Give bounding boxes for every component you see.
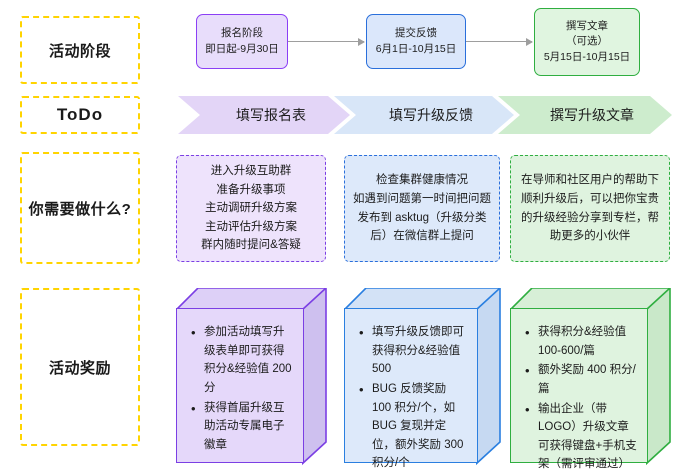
- reward-cube-feedback: 填写升级反馈即可获得积分&经验值 500 BUG 反馈奖励 100 积分/个，如…: [344, 288, 500, 463]
- reward-list-registration: 参加活动填写升级表单即可获得积分&经验值 200 分 获得首届升级互助活动专属电…: [189, 323, 293, 454]
- row-label-activity-stage: 活动阶段: [20, 16, 140, 84]
- todo-step-upgrade-feedback-label: 填写升级反馈: [389, 105, 473, 125]
- todo-step-registration-form-label: 填写报名表: [236, 105, 306, 125]
- need-box-article: 在导师和社区用户的帮助下顺利升级后，可以把你宝贵的升级经验分享到专栏，帮助更多的…: [510, 155, 670, 262]
- need-box-feedback-text: 检查集群健康情况 如遇到问题第一时间把问题发布到 asktug（升级分类后）在微…: [353, 171, 491, 246]
- cube-right-face-purple-icon: [302, 288, 328, 466]
- phase-box-article-title: 撰写文章: [566, 19, 608, 34]
- arrow-connector-1-icon: [288, 41, 364, 42]
- row-label-activity-award: 活动奖励: [20, 288, 140, 446]
- cube-right-face-blue-icon: [476, 288, 502, 466]
- cube-right-face-green-icon: [646, 288, 672, 466]
- phase-box-feedback-dates: 6月1日-10月15日: [376, 42, 457, 57]
- reward-item: 填写升级反馈即可获得积分&经验值 500: [372, 323, 467, 379]
- reward-item: BUG 反馈奖励 100 积分/个，如 BUG 复现并定位，额外奖励 300 积…: [372, 380, 467, 473]
- row-label-activity-award-text: 活动奖励: [49, 357, 111, 378]
- phase-box-article-dates: 5月15日-10月15日: [544, 50, 630, 65]
- need-box-registration: 进入升级互助群 准备升级事项 主动调研升级方案 主动评估升级方案 群内随时提问&…: [176, 155, 326, 262]
- phase-box-article[interactable]: 撰写文章 （可选） 5月15日-10月15日: [534, 8, 640, 76]
- reward-cube-article-body: 获得积分&经验值 100-600/篇 额外奖励 400 积分/篇 输出企业（带 …: [510, 308, 648, 463]
- reward-cube-registration-body: 参加活动填写升级表单即可获得积分&经验值 200 分 获得首届升级互助活动专属电…: [176, 308, 304, 463]
- phase-box-article-optional: （可选）: [566, 34, 608, 49]
- row-label-what-to-do: 你需要做什么?: [20, 152, 140, 264]
- row-label-todo-text: ToDo: [57, 105, 103, 125]
- need-box-registration-text: 进入升级互助群 准备升级事项 主动调研升级方案 主动评估升级方案 群内随时提问&…: [201, 162, 301, 255]
- reward-item: 参加活动填写升级表单即可获得积分&经验值 200 分: [204, 323, 293, 398]
- phase-box-feedback-title: 提交反馈: [395, 26, 437, 41]
- arrow-connector-2-icon: [466, 41, 532, 42]
- reward-item: 获得首届升级互助活动专属电子徽章: [204, 399, 293, 455]
- reward-item: 获得积分&经验值 100-600/篇: [538, 323, 637, 360]
- todo-step-registration-form[interactable]: 填写报名表: [178, 96, 350, 134]
- phase-box-registration-title: 报名阶段: [221, 26, 263, 41]
- need-box-feedback: 检查集群健康情况 如遇到问题第一时间把问题发布到 asktug（升级分类后）在微…: [344, 155, 500, 262]
- reward-cube-feedback-body: 填写升级反馈即可获得积分&经验值 500 BUG 反馈奖励 100 积分/个，如…: [344, 308, 478, 463]
- phase-box-registration[interactable]: 报名阶段 即日起-9月30日: [196, 14, 288, 69]
- row-label-what-to-do-text: 你需要做什么?: [29, 198, 132, 219]
- todo-step-upgrade-article-label: 撰写升级文章: [550, 105, 634, 125]
- reward-item: 输出企业（带 LOGO）升级文章可获得键盘+手机支架（需评审通过）: [538, 400, 637, 474]
- need-box-article-text: 在导师和社区用户的帮助下顺利升级后，可以把你宝贵的升级经验分享到专栏，帮助更多的…: [519, 171, 661, 246]
- row-label-todo: ToDo: [20, 96, 140, 134]
- reward-list-feedback: 填写升级反馈即可获得积分&经验值 500 BUG 反馈奖励 100 积分/个，如…: [357, 323, 467, 473]
- phase-box-feedback[interactable]: 提交反馈 6月1日-10月15日: [366, 14, 466, 69]
- todo-step-upgrade-article[interactable]: 撰写升级文章: [498, 96, 672, 134]
- row-label-activity-stage-text: 活动阶段: [49, 40, 111, 61]
- reward-cube-article: 获得积分&经验值 100-600/篇 额外奖励 400 积分/篇 输出企业（带 …: [510, 288, 670, 463]
- reward-list-article: 获得积分&经验值 100-600/篇 额外奖励 400 积分/篇 输出企业（带 …: [523, 323, 637, 474]
- todo-step-upgrade-feedback[interactable]: 填写升级反馈: [334, 96, 514, 134]
- reward-item: 额外奖励 400 积分/篇: [538, 361, 637, 398]
- reward-cube-registration: 参加活动填写升级表单即可获得积分&经验值 200 分 获得首届升级互助活动专属电…: [176, 288, 326, 463]
- phase-box-registration-dates: 即日起-9月30日: [205, 42, 279, 57]
